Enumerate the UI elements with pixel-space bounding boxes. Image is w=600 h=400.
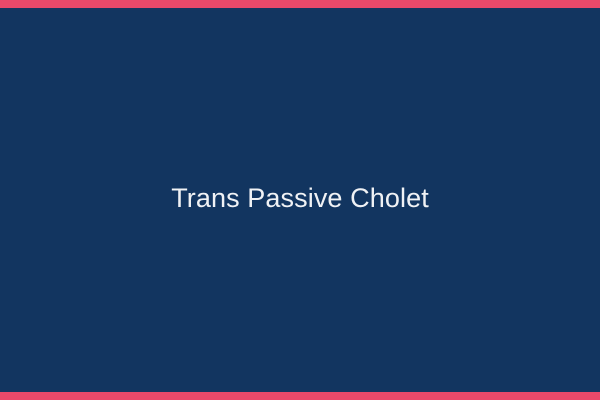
bottom-accent-bar [0,392,600,400]
placeholder-card: Trans Passive Cholet [0,0,600,400]
top-accent-bar [0,0,600,8]
placeholder-title: Trans Passive Cholet [171,182,429,214]
placeholder-canvas-body: Trans Passive Cholet [0,8,600,392]
